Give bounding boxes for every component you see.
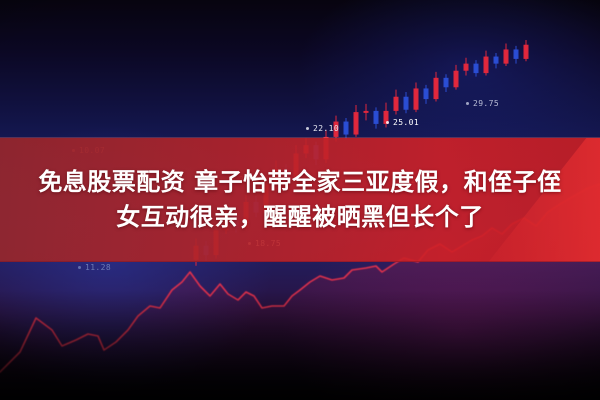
- candle-body: [354, 112, 359, 134]
- price-label: 29.75: [466, 99, 499, 108]
- price-marker-dot: [78, 266, 81, 269]
- price-label-text: 25.01: [393, 118, 419, 127]
- banner-image: 10.0722.1025.0129.7518.7511.2825.2324.11…: [0, 0, 600, 400]
- price-label: 11.28: [78, 263, 111, 272]
- candle-body: [434, 78, 439, 99]
- price-label: 22.10: [306, 124, 339, 133]
- candle-body: [404, 97, 409, 110]
- price-label-text: 22.10: [313, 124, 339, 133]
- candle-body: [414, 88, 419, 109]
- price-label-text: 29.75: [473, 99, 499, 108]
- headline-line-2: 女互动很亲，醒醒被晒黑但长个了: [116, 205, 484, 230]
- candle-body: [424, 88, 429, 99]
- candle-body: [514, 49, 519, 58]
- price-label: 25.01: [386, 118, 419, 127]
- candle-body: [494, 57, 499, 64]
- candle-body: [484, 57, 489, 74]
- candle-body: [364, 111, 369, 113]
- price-label-text: 11.28: [85, 263, 111, 272]
- price-marker-dot: [306, 127, 309, 130]
- candle-body: [474, 64, 479, 73]
- candle-body: [504, 49, 509, 63]
- candle-body: [344, 122, 349, 135]
- price-marker-dot: [466, 102, 469, 105]
- candle-body: [444, 78, 449, 87]
- headline-text: 免息股票配资 章子怡带全家三亚度假，和侄子侄 女互动很亲，醒醒被晒黑但长个了: [0, 138, 600, 262]
- price-marker-dot: [386, 121, 389, 124]
- candle-body: [374, 111, 379, 124]
- headline-line-1: 免息股票配资 章子怡带全家三亚度假，和侄子侄: [38, 170, 561, 195]
- candle-body: [394, 97, 399, 111]
- candle-body: [454, 71, 459, 88]
- candle-body: [524, 45, 529, 59]
- candle-body: [464, 64, 469, 71]
